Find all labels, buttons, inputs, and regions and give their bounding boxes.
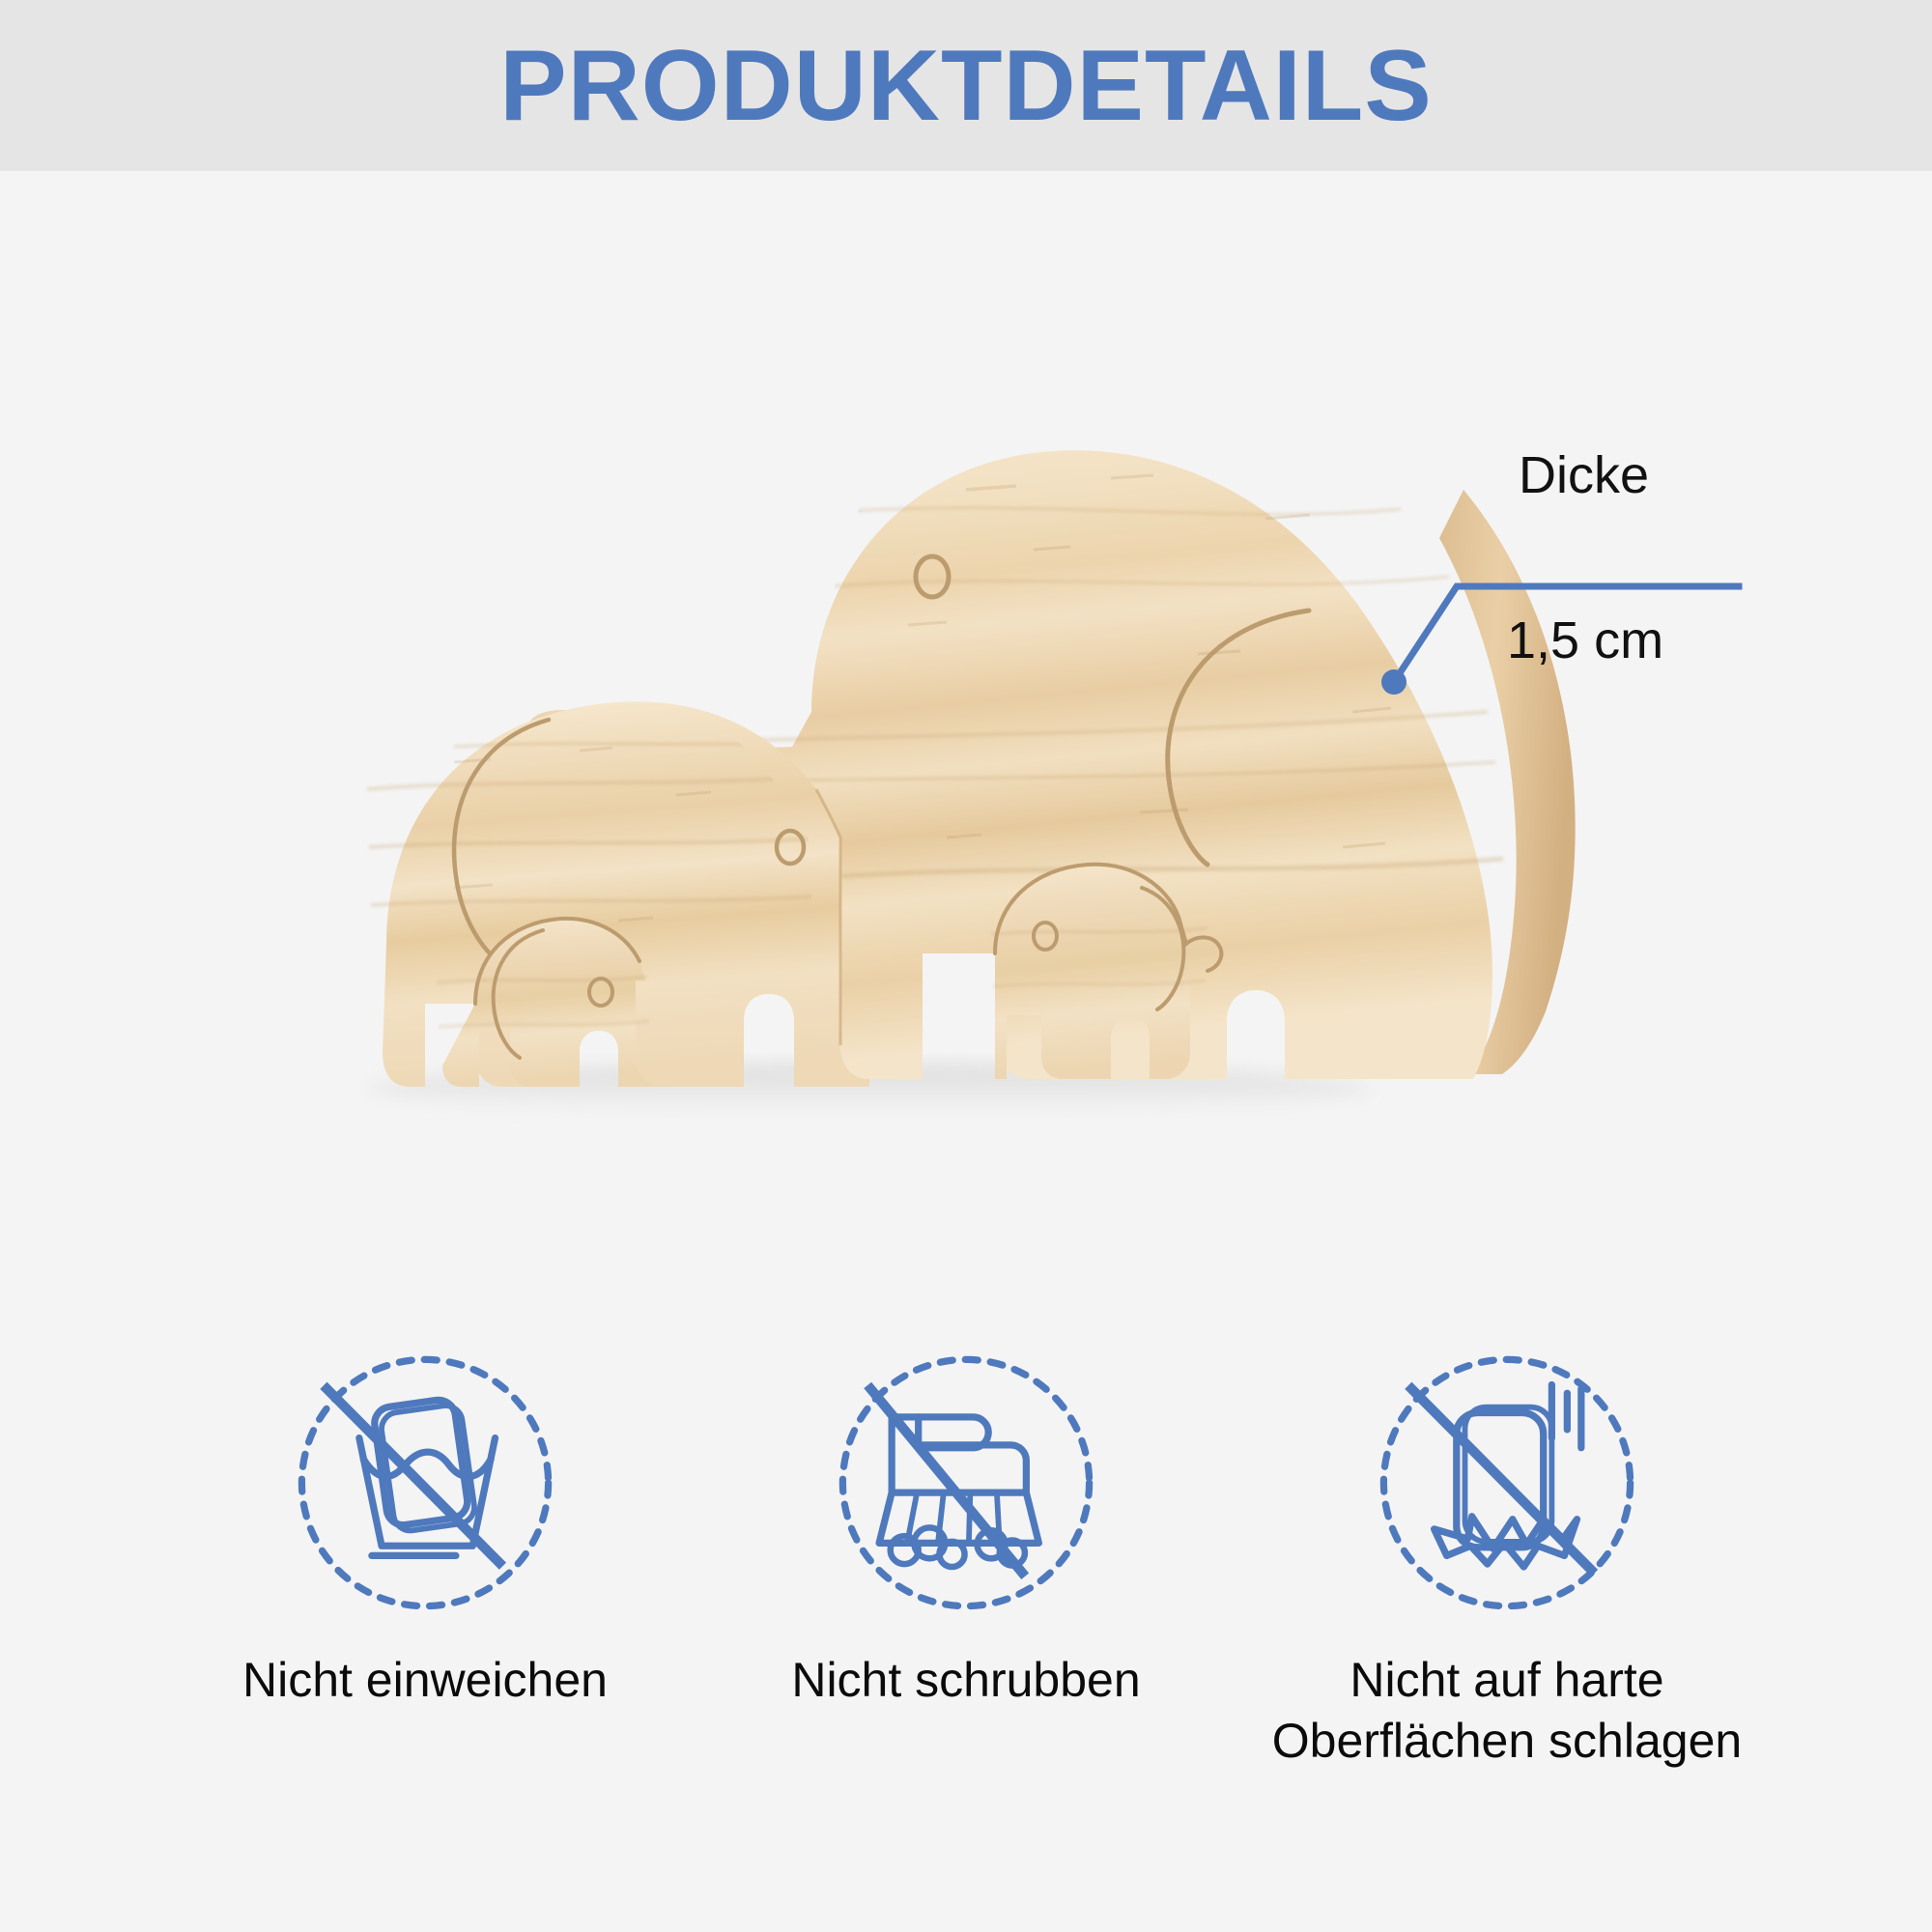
product-stage: Dicke 1,5 cm <box>0 171 1932 1311</box>
page-title: PRODUKTDETAILS <box>499 36 1432 136</box>
dimension-callout: Dicke 1,5 cm <box>1352 441 1816 712</box>
care-item-no-hard-surface: Nicht auf harte Oberflächen schlagen <box>1236 1343 1777 1772</box>
header-band: PRODUKTDETAILS <box>0 0 1932 171</box>
no-soak-icon <box>285 1343 565 1623</box>
care-instructions-row: Nicht einweichen <box>0 1343 1932 1845</box>
care-caption: Nicht schrubben <box>791 1650 1140 1711</box>
care-item-no-scrub: Nicht schrubben <box>696 1343 1236 1711</box>
product-photo <box>0 171 1932 1311</box>
care-item-no-soak: Nicht einweichen <box>155 1343 696 1711</box>
callout-label: Dicke <box>1519 445 1649 505</box>
callout-anchor-dot <box>1381 669 1406 695</box>
no-hard-surface-impact-icon <box>1367 1343 1647 1623</box>
care-caption: Nicht einweichen <box>242 1650 608 1711</box>
no-scrub-brush-icon <box>826 1343 1106 1623</box>
care-caption: Nicht auf harte Oberflächen schlagen <box>1272 1650 1742 1772</box>
callout-value: 1,5 cm <box>1507 611 1663 670</box>
